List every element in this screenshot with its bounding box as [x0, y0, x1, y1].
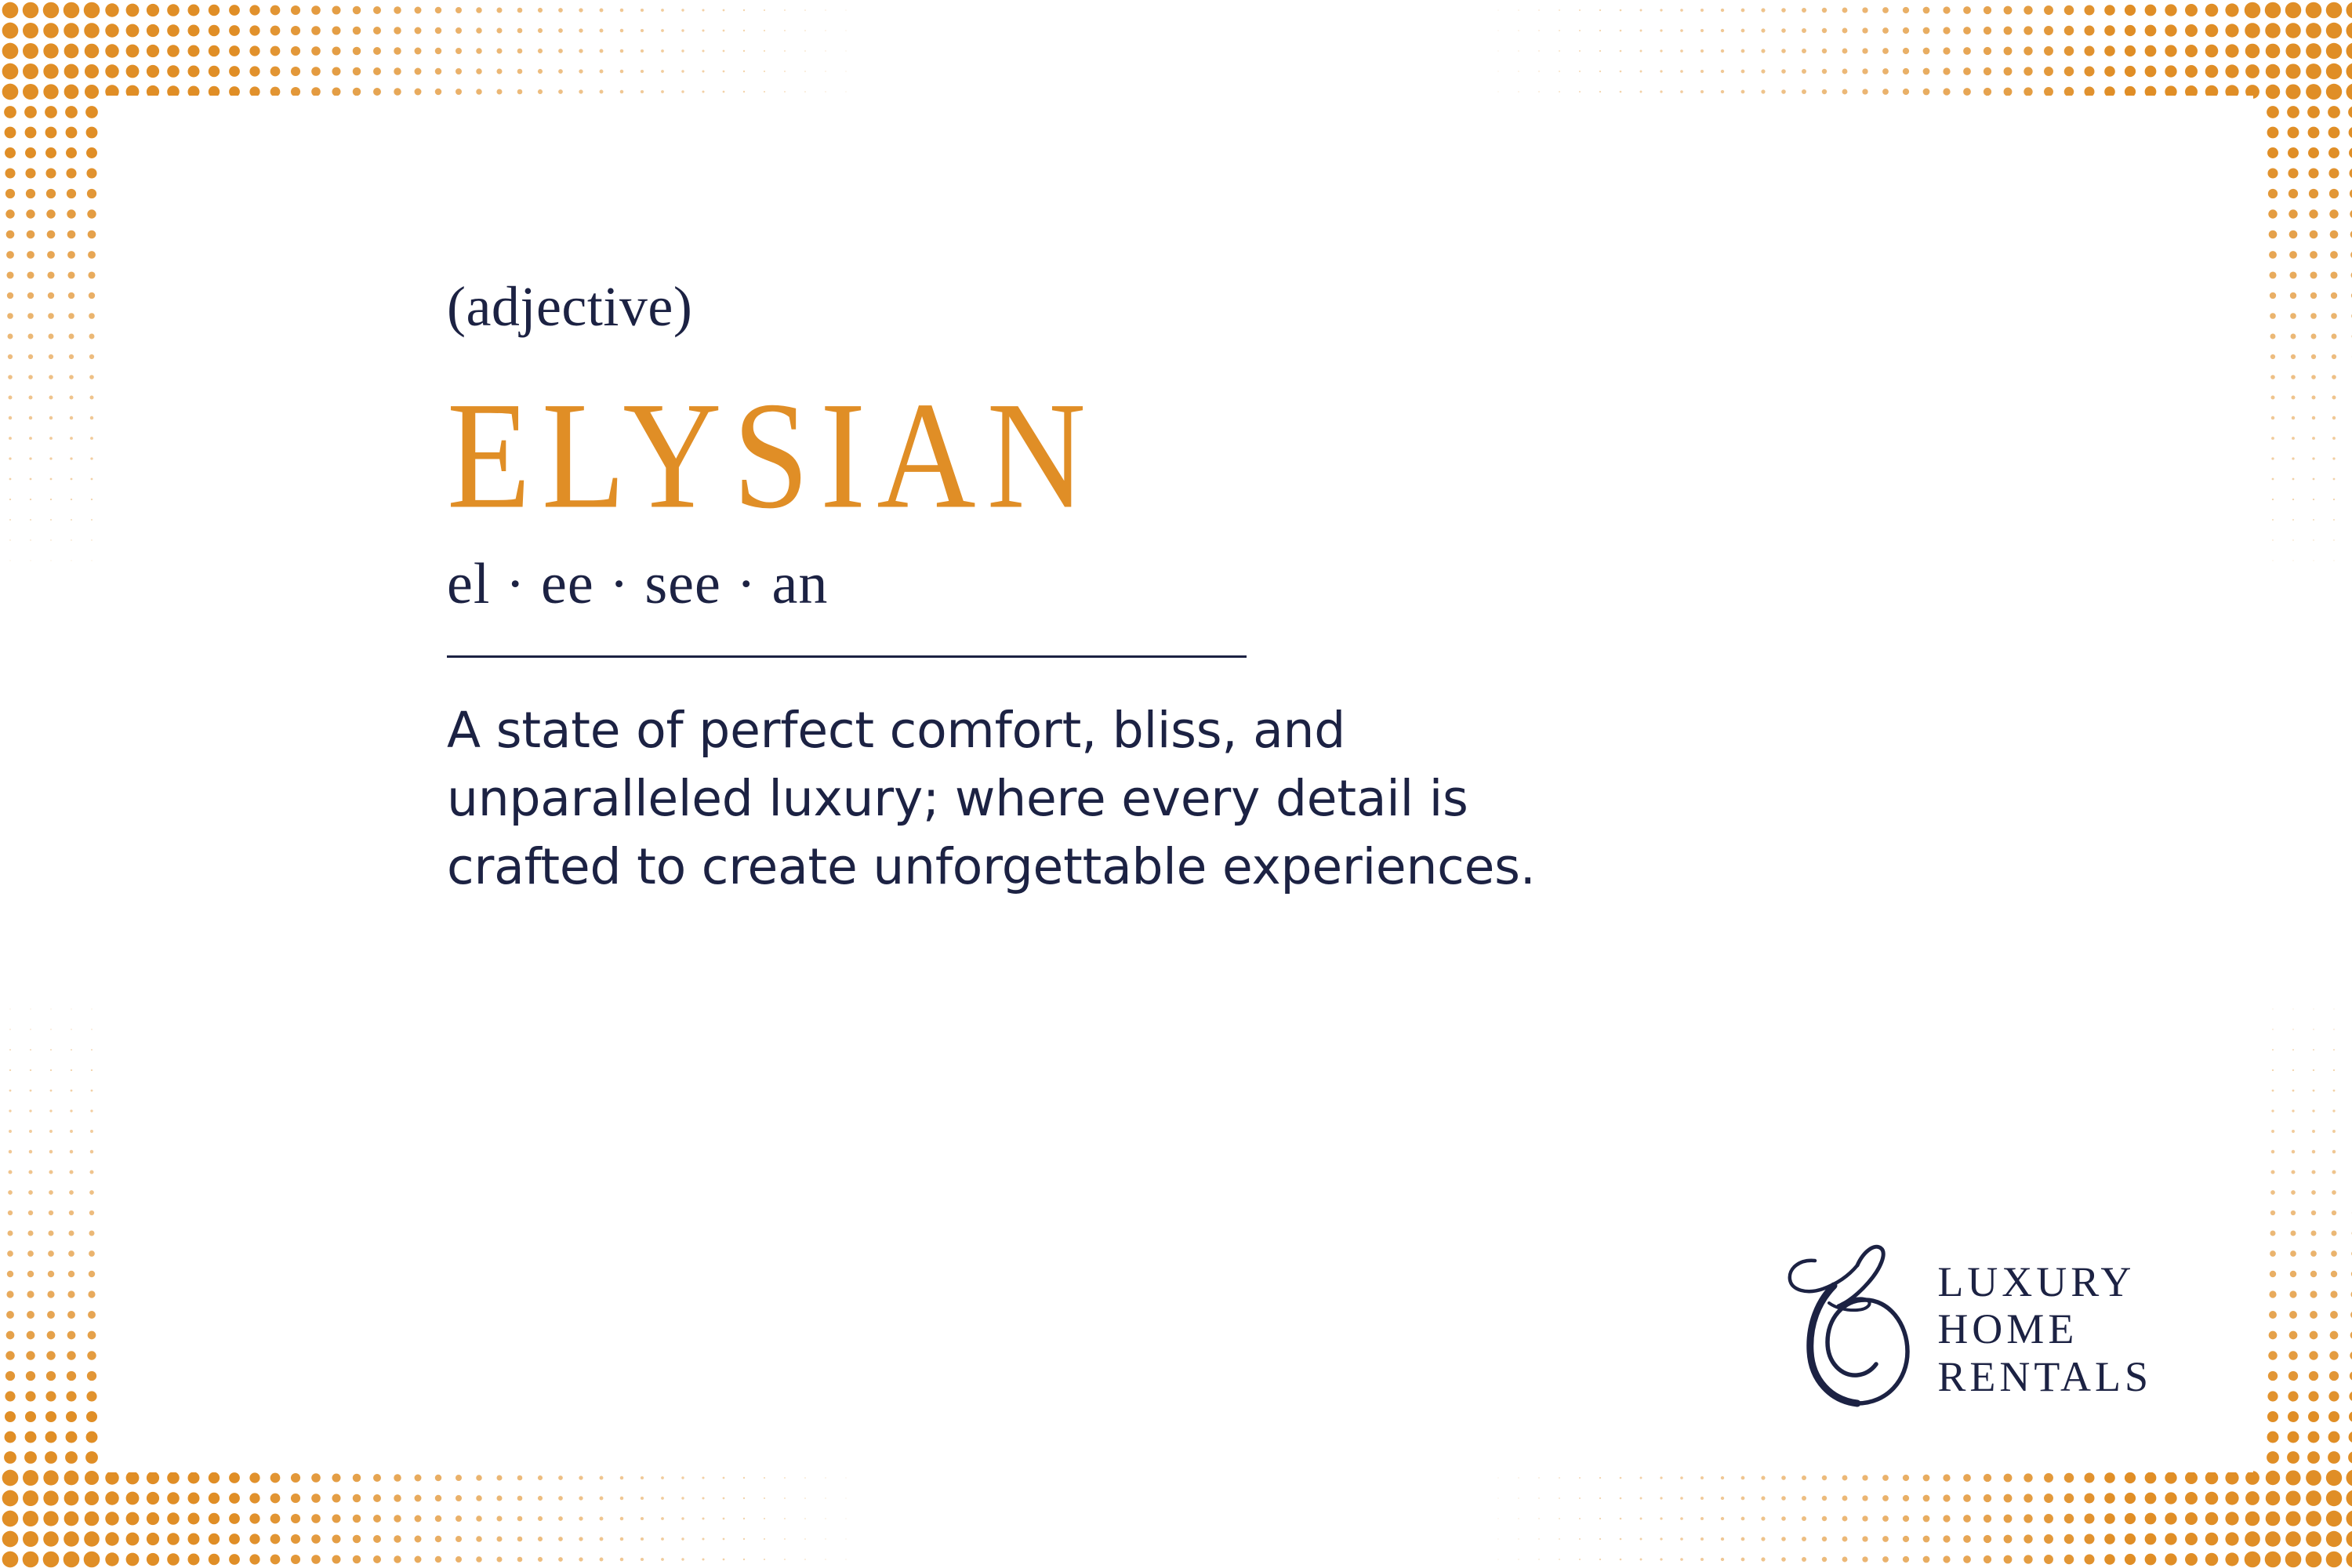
brand-logo[interactable]: LUXURY HOME RENTALS — [1782, 1237, 2152, 1421]
logo-line-rentals: RENTALS — [1937, 1353, 2152, 1400]
definition-block: (adjective) ELYSIAN el · ee · see · an A… — [447, 278, 2062, 902]
logo-line-home: HOME — [1937, 1305, 2152, 1352]
part-of-speech-label: (adjective) — [447, 278, 2062, 335]
pronunciation-text: el · ee · see · an — [447, 555, 2062, 613]
definition-text: A state of perfect comfort, bliss, and u… — [447, 697, 1537, 902]
divider-rule — [447, 655, 1247, 658]
logo-wordmark: LUXURY HOME RENTALS — [1937, 1258, 2152, 1400]
script-e-monogram-icon — [1782, 1237, 1923, 1421]
headword-title: ELYSIAN — [447, 379, 2062, 532]
poster-canvas: (adjective) ELYSIAN el · ee · see · an A… — [0, 0, 2352, 1568]
logo-line-luxury: LUXURY — [1937, 1258, 2152, 1305]
